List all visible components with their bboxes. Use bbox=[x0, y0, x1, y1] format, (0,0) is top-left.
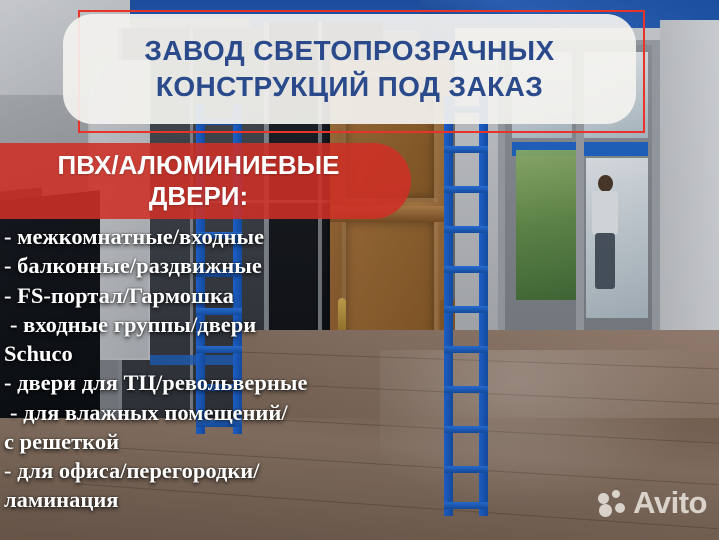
advertisement-banner: ЗАВОД СВЕТОПРОЗРАЧНЫХ КОНСТРУКЦИЙ ПОД ЗА… bbox=[0, 0, 719, 540]
list-item: - двери для ТЦ/револьверные bbox=[0, 368, 420, 397]
banner-line-1: ПВХ/АЛЮМИНИЕВЫЕ bbox=[58, 150, 340, 181]
list-item: с решеткой bbox=[0, 427, 420, 456]
header-panel: ЗАВОД СВЕТОПРОЗРАЧНЫХ КОНСТРУКЦИЙ ПОД ЗА… bbox=[63, 14, 636, 124]
header-line-2: КОНСТРУКЦИЙ ПОД ЗАКАЗ bbox=[156, 69, 543, 105]
avito-logo-icon bbox=[598, 490, 626, 516]
banner-line-2: ДВЕРИ: bbox=[149, 181, 248, 212]
avito-dot-1 bbox=[598, 493, 609, 504]
list-item: ламинация bbox=[0, 485, 420, 514]
product-category-banner: ПВХ/АЛЮМИНИЕВЫЕ ДВЕРИ: bbox=[0, 143, 411, 219]
avito-dot-3 bbox=[599, 504, 612, 517]
list-item: - FS-портал/Гармошка bbox=[0, 281, 420, 310]
list-item: Schuco bbox=[0, 339, 420, 368]
product-list: - межкомнатные/входные - балконные/раздв… bbox=[0, 222, 420, 515]
avito-dot-2 bbox=[612, 490, 620, 498]
list-item: - для влажных помещений/ bbox=[0, 398, 420, 427]
list-item: - межкомнатные/входные bbox=[0, 222, 420, 251]
avito-wordmark: Avito bbox=[633, 487, 707, 518]
list-item: - балконные/раздвижные bbox=[0, 251, 420, 280]
avito-watermark: Avito bbox=[598, 487, 707, 518]
list-item: - для офиса/перегородки/ bbox=[0, 456, 420, 485]
header-line-1: ЗАВОД СВЕТОПРОЗРАЧНЫХ bbox=[144, 33, 554, 69]
avito-dot-4 bbox=[615, 503, 625, 513]
list-item: - входные группы/двери bbox=[0, 310, 420, 339]
